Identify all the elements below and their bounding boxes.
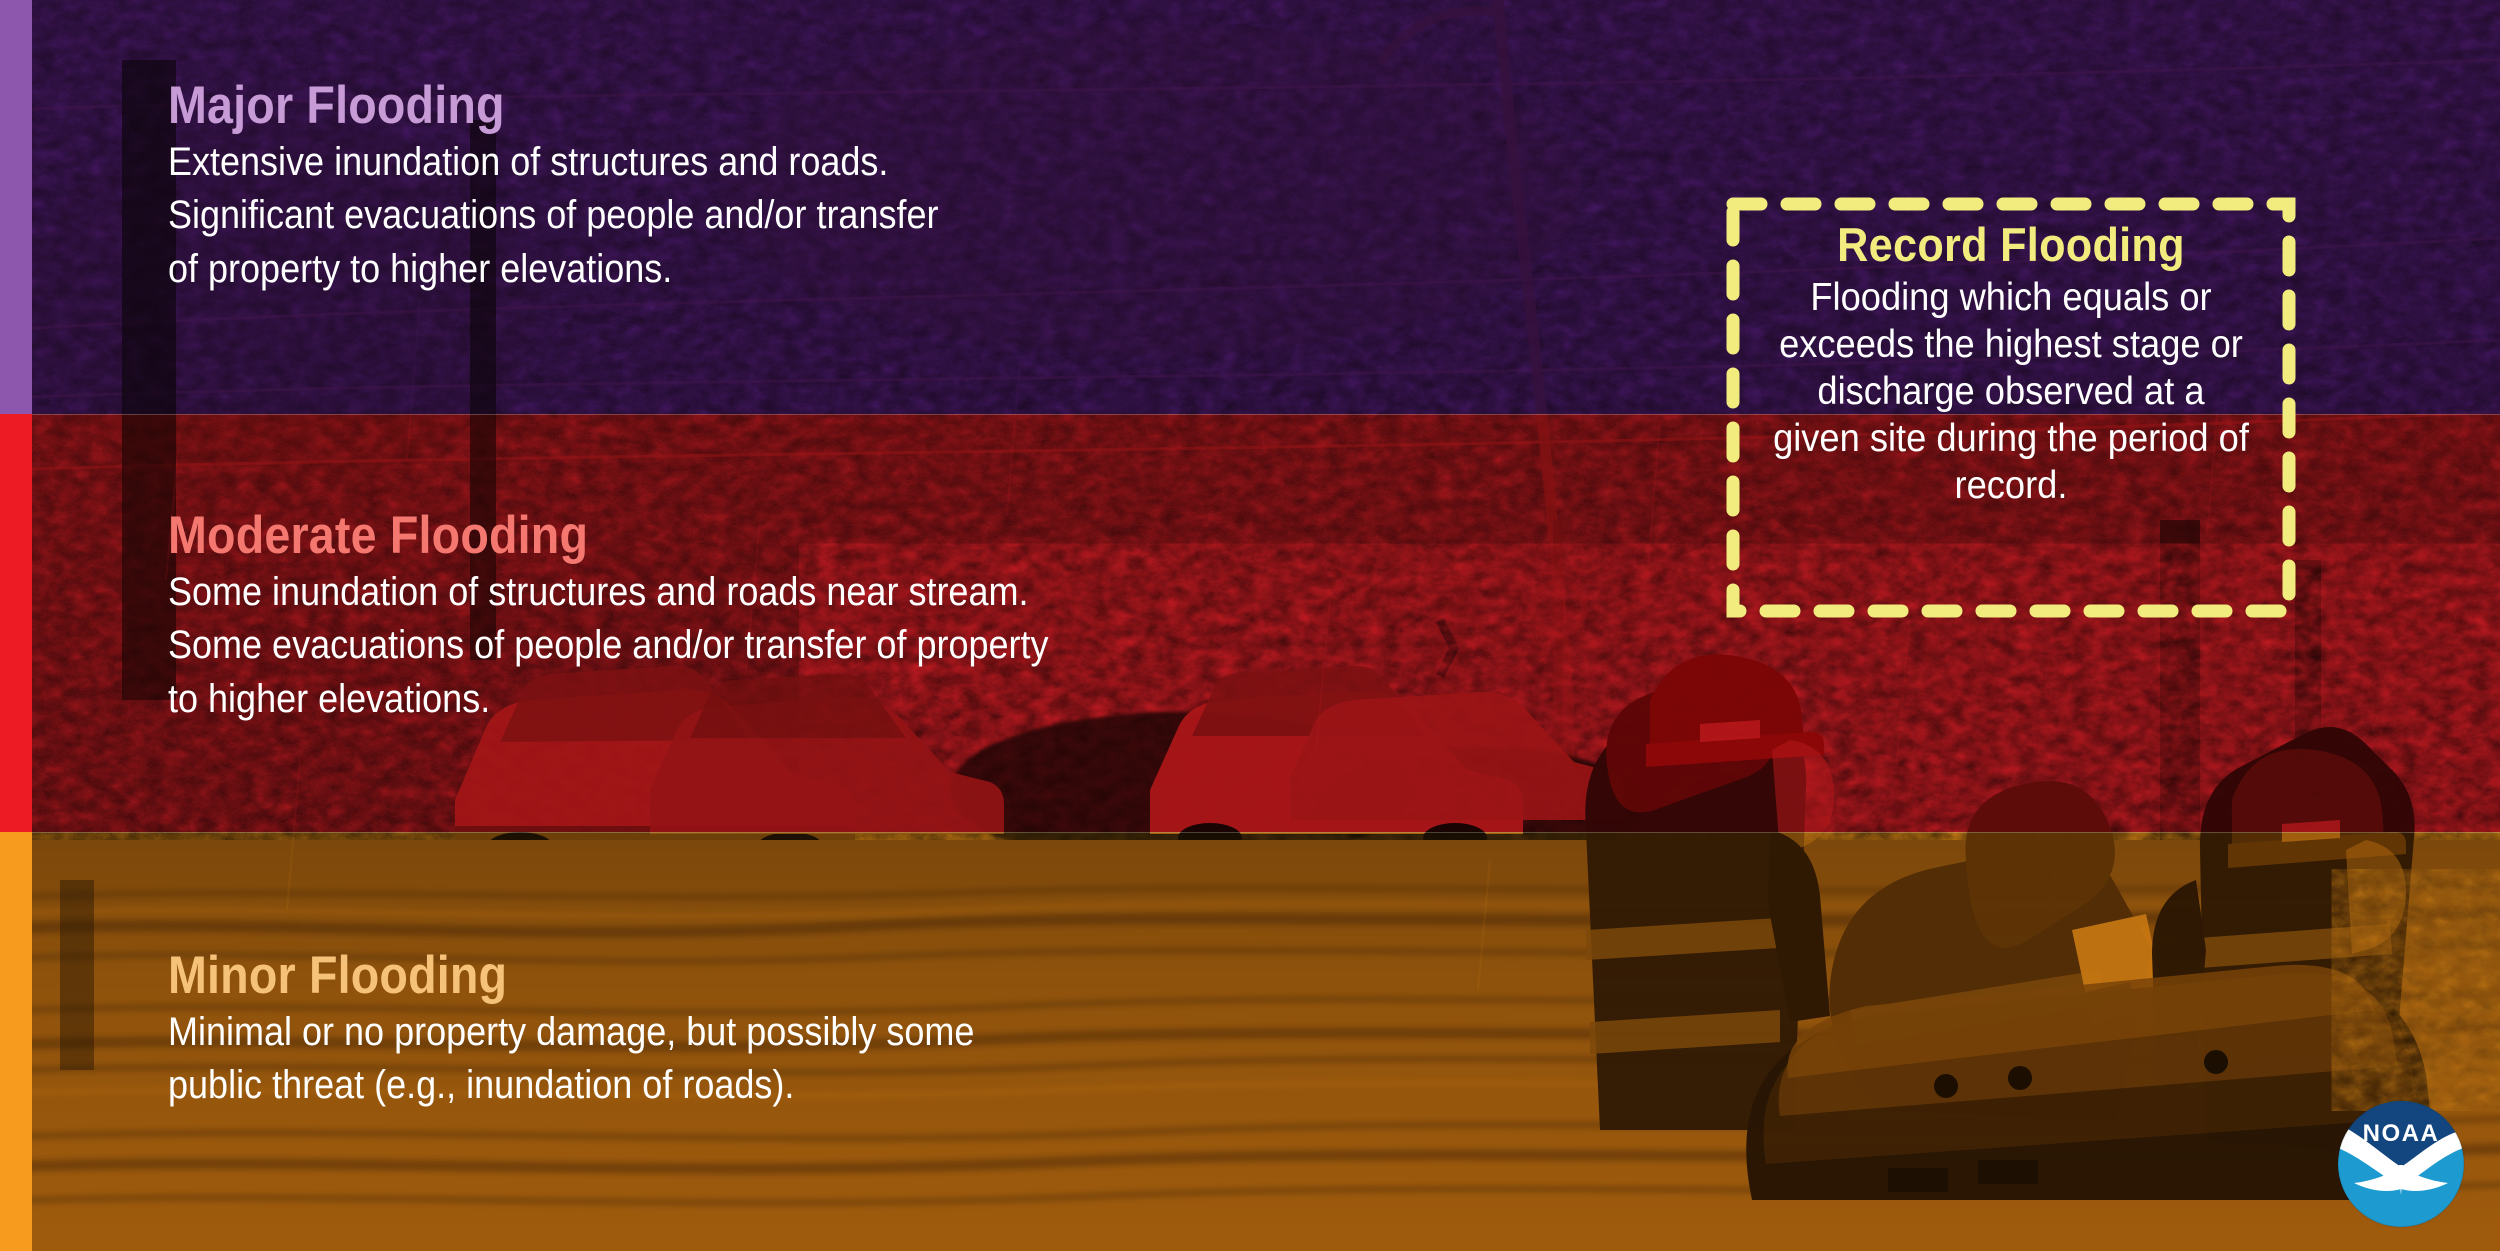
key-bar-minor xyxy=(0,832,32,1251)
key-bar-moderate xyxy=(0,414,32,832)
major-flooding-body: Extensive inundation of structures and r… xyxy=(168,136,938,296)
minor-flooding-block: Minor Flooding Minimal or no property da… xyxy=(168,948,1064,1113)
moderate-flooding-body: Some inundation of structures and roads … xyxy=(168,566,1049,726)
key-bar-major xyxy=(0,0,32,414)
noaa-wordmark: NOAA xyxy=(2363,1120,2440,1147)
record-flooding-heading: Record Flooding xyxy=(1773,219,2250,272)
moderate-flooding-block: Moderate Flooding Some inundation of str… xyxy=(168,508,1146,726)
minor-flooding-body: Minimal or no property damage, but possi… xyxy=(168,1006,974,1112)
record-flooding-body: Flooding which equals or exceeds the hig… xyxy=(1770,274,2252,510)
major-flooding-block: Major Flooding Extensive inundation of s… xyxy=(168,78,1024,296)
moderate-flooding-heading: Moderate Flooding xyxy=(168,508,1029,564)
minor-flooding-heading: Minor Flooding xyxy=(168,948,956,1004)
severity-color-key-bar xyxy=(0,0,32,1251)
noaa-logo: NOAA xyxy=(2336,1099,2466,1229)
flood-severity-infographic: Major Flooding Extensive inundation of s… xyxy=(0,0,2500,1251)
record-flooding-callout: Record Flooding Flooding which equals or… xyxy=(1726,197,2296,618)
major-flooding-heading: Major Flooding xyxy=(168,78,921,134)
